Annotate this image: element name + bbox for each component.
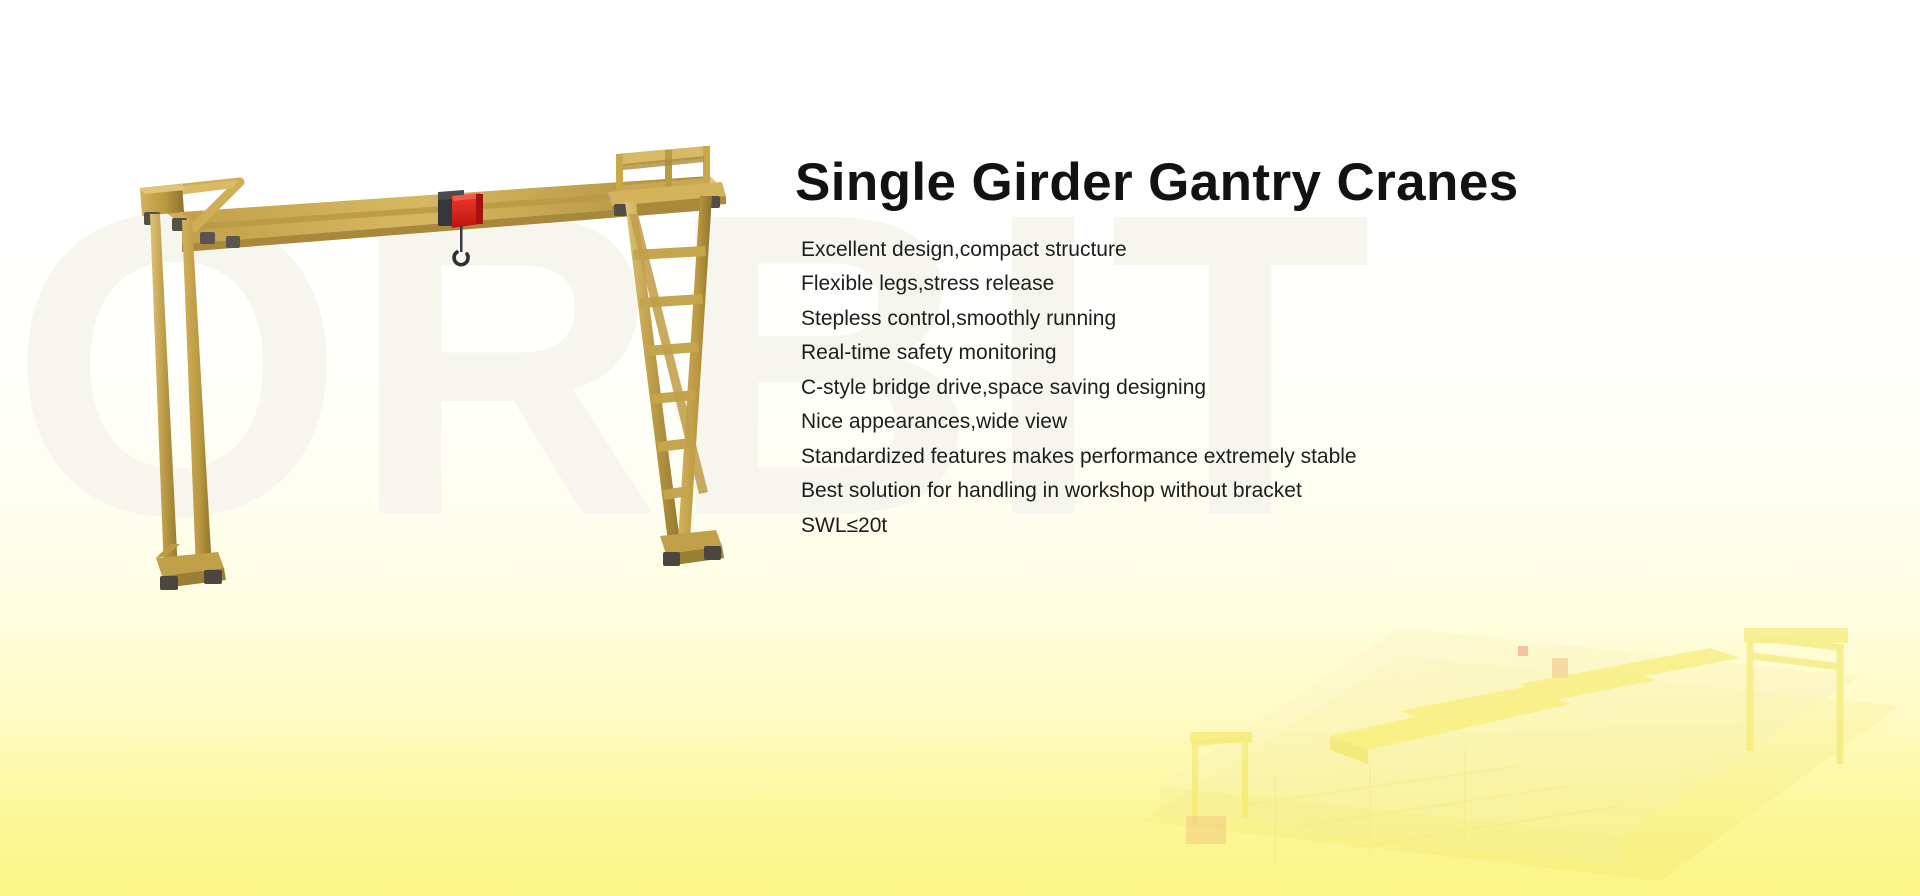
feature-item: Stepless control,smoothly running [801, 308, 1855, 329]
feature-item: Real-time safety monitoring [801, 342, 1855, 363]
feature-item: SWL≤20t [801, 515, 1855, 536]
feature-item: C-style bridge drive,space saving design… [801, 377, 1855, 398]
content-column: Single Girder Gantry Cranes Excellent de… [795, 155, 1855, 549]
feature-item: Excellent design,compact structure [801, 239, 1855, 260]
gantry-crane-render-icon [120, 140, 780, 610]
feature-item: Standardized features makes performance … [801, 446, 1855, 467]
feature-item: Nice appearances,wide view [801, 411, 1855, 432]
feature-list: Excellent design,compact structureFlexib… [795, 239, 1855, 536]
workshop-illustration-icon [1100, 536, 1920, 896]
banner-stage: ORBIT [0, 0, 1920, 896]
page-title: Single Girder Gantry Cranes [795, 155, 1855, 211]
feature-item: Flexible legs,stress release [801, 273, 1855, 294]
feature-item: Best solution for handling in workshop w… [801, 480, 1855, 501]
